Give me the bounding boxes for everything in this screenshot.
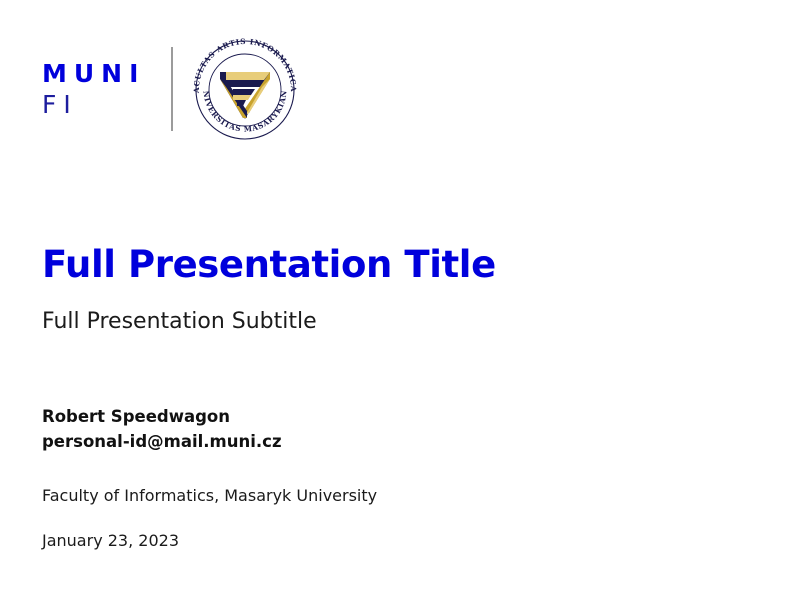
- author-email: personal-id@mail.muni.cz: [42, 429, 282, 454]
- muni-fi-wordmark: MUNI FI: [42, 50, 171, 128]
- wordmark-fi-text: FI: [42, 89, 145, 120]
- page-title: Full Presentation Title: [42, 243, 496, 287]
- presentation-title-slide: MUNI FI ·FACULTAS ARTIS INFORMATICAE·: [0, 0, 794, 596]
- presentation-date: January 23, 2023: [42, 529, 179, 553]
- brand-header: MUNI FI ·FACULTAS ARTIS INFORMATICAE·: [42, 38, 301, 140]
- wordmark-muni-text: MUNI: [42, 59, 145, 89]
- university-seal-icon: ·FACULTAS ARTIS INFORMATICAE· ·UNIVERSIT…: [189, 38, 301, 140]
- page-subtitle: Full Presentation Subtitle: [42, 307, 317, 337]
- author-name: Robert Speedwagon: [42, 404, 282, 429]
- author-affiliation: Faculty of Informatics, Masaryk Universi…: [42, 484, 377, 508]
- brand-divider: [171, 47, 173, 131]
- author-block: Robert Speedwagon personal-id@mail.muni.…: [42, 404, 282, 454]
